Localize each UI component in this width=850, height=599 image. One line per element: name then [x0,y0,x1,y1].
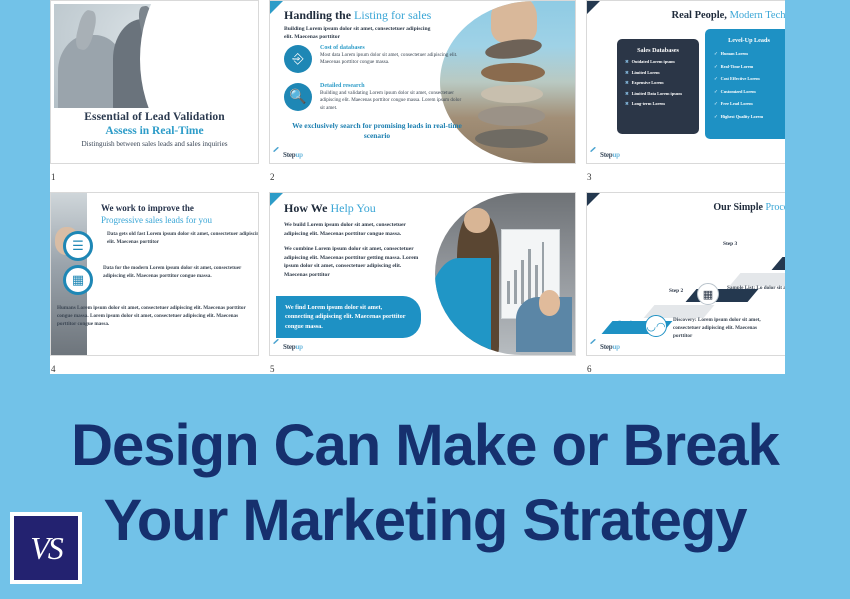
check-icon: ✓ [714,64,718,69]
magnifier-icon: 🔍 [284,83,312,111]
level-up-leads-title: Level-Up Leads [705,37,785,44]
stepup-logo: Stepup [276,151,303,159]
corner-triangle-icon [270,193,283,206]
banner-headline-line-1: Design Can Make or Break [71,413,779,478]
list-document-icon: ▦ [697,283,719,305]
slide-4-bullet-2: ▦ Data for the modern Lorem ipsum dolor … [63,265,259,281]
hand-coin-icon: ⎆ [284,45,312,73]
list-item: ✖Long-term Lorem [625,101,699,107]
slide-4-footer: Humans Lorem ipsum dolor sit amet, conse… [57,305,247,328]
slide-cell-3[interactable]: Real People, Modern Techno Sales Databas… [586,0,785,182]
step-2-label: Step 2 [669,288,683,294]
cross-icon: ✖ [625,91,629,96]
corner-triangle-icon [587,193,600,206]
curve-mask [140,4,250,108]
slide-5-paragraph-1: We build Lorem ipsum dolor sit amet, con… [284,221,424,238]
stone-shape [475,129,548,148]
slide-6-title-accent: Process [765,202,785,213]
cross-icon: ✖ [625,101,629,106]
stepup-part2: up [612,343,619,351]
stepup-part1: Step [600,151,612,159]
slide-5-highlight-band: We find Lorem ipsum dolor sit amet, conn… [276,296,421,338]
list-item-label: Expensive Lorem [632,80,664,85]
corner-triangle-icon [270,1,283,14]
slide-cell-2[interactable]: Handling the Listing for sales Building … [269,0,576,182]
slide-5[interactable]: How We Help You We build Lorem ipsum dol… [269,192,576,356]
cross-icon: ✖ [625,59,629,64]
list-item-label: Cost Effective Lorem [721,76,760,81]
check-mark-icon [590,147,597,153]
slide-cell-1[interactable]: Essential of Lead Validation Assess in R… [50,0,259,182]
slide-3-title-plain: Real People, [672,10,730,21]
slide-cell-6[interactable]: Our Simple Process ◡◠ ▦ Step 1 Step 2 St… [586,192,785,374]
slide-3[interactable]: Real People, Modern Techno Sales Databas… [586,0,785,164]
hand-shape [491,1,537,43]
slide-cell-5[interactable]: How We Help You We build Lorem ipsum dol… [269,192,576,374]
slide-3-title-accent: Modern Techno [730,10,785,21]
sales-databases-title: Sales Databases [617,47,699,54]
slide-1-text-block: Essential of Lead Validation Assess in R… [51,111,258,148]
stone-shape [484,36,543,62]
slide-4[interactable]: We work to improve the Progressive sales… [50,192,259,356]
cross-icon: ✖ [625,80,629,85]
banner-headline: Design Can Make or Break Your Marketing … [0,408,850,559]
level-up-leads-card: Level-Up Leads ✓Human Lorem ✓Real-Time L… [705,29,785,139]
stepup-part2: up [612,151,619,159]
slide-5-title-plain: How We [284,201,330,215]
list-item-label: Free Lead Lorem [721,101,753,106]
stepup-part2: up [295,343,302,351]
slide-1-caption: Distinguish between sales leads and sale… [59,140,250,148]
stepup-part2: up [295,151,302,159]
stepup-part1: Step [283,151,295,159]
banner-region: Design Can Make or Break Your Marketing … [0,374,850,599]
corner-triangle-icon [587,1,600,14]
list-item: ✓Cost Effective Lorem [714,76,785,82]
list-item-label: Outdated Lorem ipsum [632,59,675,64]
list-item: ✖Outdated Lorem ipsum [625,59,699,65]
slide-2[interactable]: Handling the Listing for sales Building … [269,0,576,164]
slide-6-title-plain: Our Simple [713,202,765,213]
slide-4-subtitle: Progressive sales leads for you [101,215,212,225]
stepup-logo: Stepup [593,343,620,351]
stepup-logo: Stepup [276,343,303,351]
slide-2-lead: Building Lorem ipsum dolor sit amet, con… [284,25,434,41]
bullet-1-body: Most data Lorem ipsum dolor sit amet, co… [320,52,464,67]
check-icon: ✓ [714,51,718,56]
list-item: ✓Highest Quality Lorem [714,114,785,120]
list-item-label: Customized Lorem [721,89,756,94]
list-item: ✖Expensive Lorem [625,80,699,86]
blue-swoosh-shape [435,258,491,355]
bullet-2-body: Building and validating Lorem ipsum dolo… [320,90,464,112]
slide-1-title: Essential of Lead Validation [59,111,250,123]
slide-3-title: Real People, Modern Techno [672,10,785,21]
list-item-label: Human Lorem [721,51,748,56]
check-mark-icon [273,147,280,153]
slide-grid: Essential of Lead Validation Assess in R… [50,0,785,374]
slide-1-subtitle: Assess in Real-Time [59,125,250,137]
slide-number-4: 4 [51,364,56,374]
step-2-text: Sample List: Lo dolor sit amet, [727,285,785,293]
stepup-part1: Step [283,343,295,351]
list-item: ✓Real-Time Lorem [714,64,785,70]
slide-4-title: We work to improve the [101,203,194,213]
list-item: ✖Limited Lorem [625,70,699,76]
slide-2-bullet-1: ⎆ Cost of databases Most data Lorem ipsu… [284,45,464,67]
list-item: ✓Customized Lorem [714,89,785,95]
check-mark-icon [273,339,280,345]
presentation-photo [435,193,575,355]
slide-6[interactable]: Our Simple Process ◡◠ ▦ Step 1 Step 2 St… [586,192,785,356]
bullet-1-heading: Cost of databases [320,45,464,51]
man-head-shape [464,208,489,234]
slide-2-title-plain: Handling the [284,8,354,22]
check-icon: ✓ [714,89,718,94]
slide-4-bullet-1: ☰ Data gets old fast Lorem ipsum dolor s… [63,231,259,247]
bullet-2-body: Data for the modern Lorem ipsum dolor si… [103,265,259,281]
list-item: ✖Limited Data Lorem ipsum [625,91,699,97]
bullet-1-body: Data gets old fast Lorem ipsum dolor sit… [107,231,259,247]
list-item: ✓Human Lorem [714,51,785,57]
slide-2-title-accent: Listing for sales [354,8,431,22]
slide-2-cta: We exclusively search for promising lead… [282,121,472,142]
slide-5-paragraph-2: We combine Lorem ipsum dolor sit amet, c… [284,245,424,280]
stone-shape [481,63,546,82]
slide-5-title: How We Help You [284,201,376,216]
check-icon: ✓ [714,114,718,119]
check-mark-icon [590,339,597,345]
vs-logo-mark: VS [14,516,78,580]
banner-headline-line-2: Your Marketing Strategy [0,483,850,558]
step-1-text: Discovery: Lorem ipsum dolor sit amet, c… [673,317,765,340]
teamwork-photo [54,4,250,108]
list-item: ✓Free Lead Lorem [714,101,785,107]
slide-2-title: Handling the Listing for sales [284,8,431,23]
cross-icon: ✖ [625,70,629,75]
step-1-label: Step 1 [618,320,632,326]
slide-1[interactable]: Essential of Lead Validation Assess in R… [50,0,259,164]
binoculars-icon: ◡◠ [645,315,667,337]
slide-cell-4[interactable]: We work to improve the Progressive sales… [50,192,259,374]
slide-number-1: 1 [51,172,56,182]
slide-number-6: 6 [587,364,592,374]
stone-shape [478,106,546,125]
bullet-2-heading: Detailed research [320,83,464,89]
stepup-logo: Stepup [593,151,620,159]
sales-databases-card: Sales Databases ✖Outdated Lorem ipsum ✖L… [617,39,699,134]
chevron-segment [772,257,785,270]
slide-6-title: Our Simple Process [713,202,785,213]
stone-shape [481,85,543,103]
slide-number-2: 2 [270,172,275,182]
list-item-label: Limited Data Lorem ipsum [632,91,682,96]
vs-logo: VS [10,512,82,584]
list-item-label: Limited Lorem [632,70,660,75]
check-icon: ✓ [714,101,718,106]
database-icon: ☰ [63,231,93,261]
list-item-label: Highest Quality Lorem [721,114,763,119]
slide-deck-region: Essential of Lead Validation Assess in R… [0,0,850,374]
slide-2-bullet-2: 🔍 Detailed research Building and validat… [284,83,464,112]
slide-number-5: 5 [270,364,275,374]
list-item-label: Long-term Lorem [632,101,665,106]
check-icon: ✓ [714,76,718,81]
slide-number-3: 3 [587,172,592,182]
step-3-label: Step 3 [723,241,737,247]
list-item-label: Real-Time Lorem [721,64,754,69]
slide-5-title-accent: Help You [330,201,375,215]
stepup-part1: Step [600,343,612,351]
building-icon: ▦ [63,265,93,295]
woman-head-shape [539,290,560,316]
